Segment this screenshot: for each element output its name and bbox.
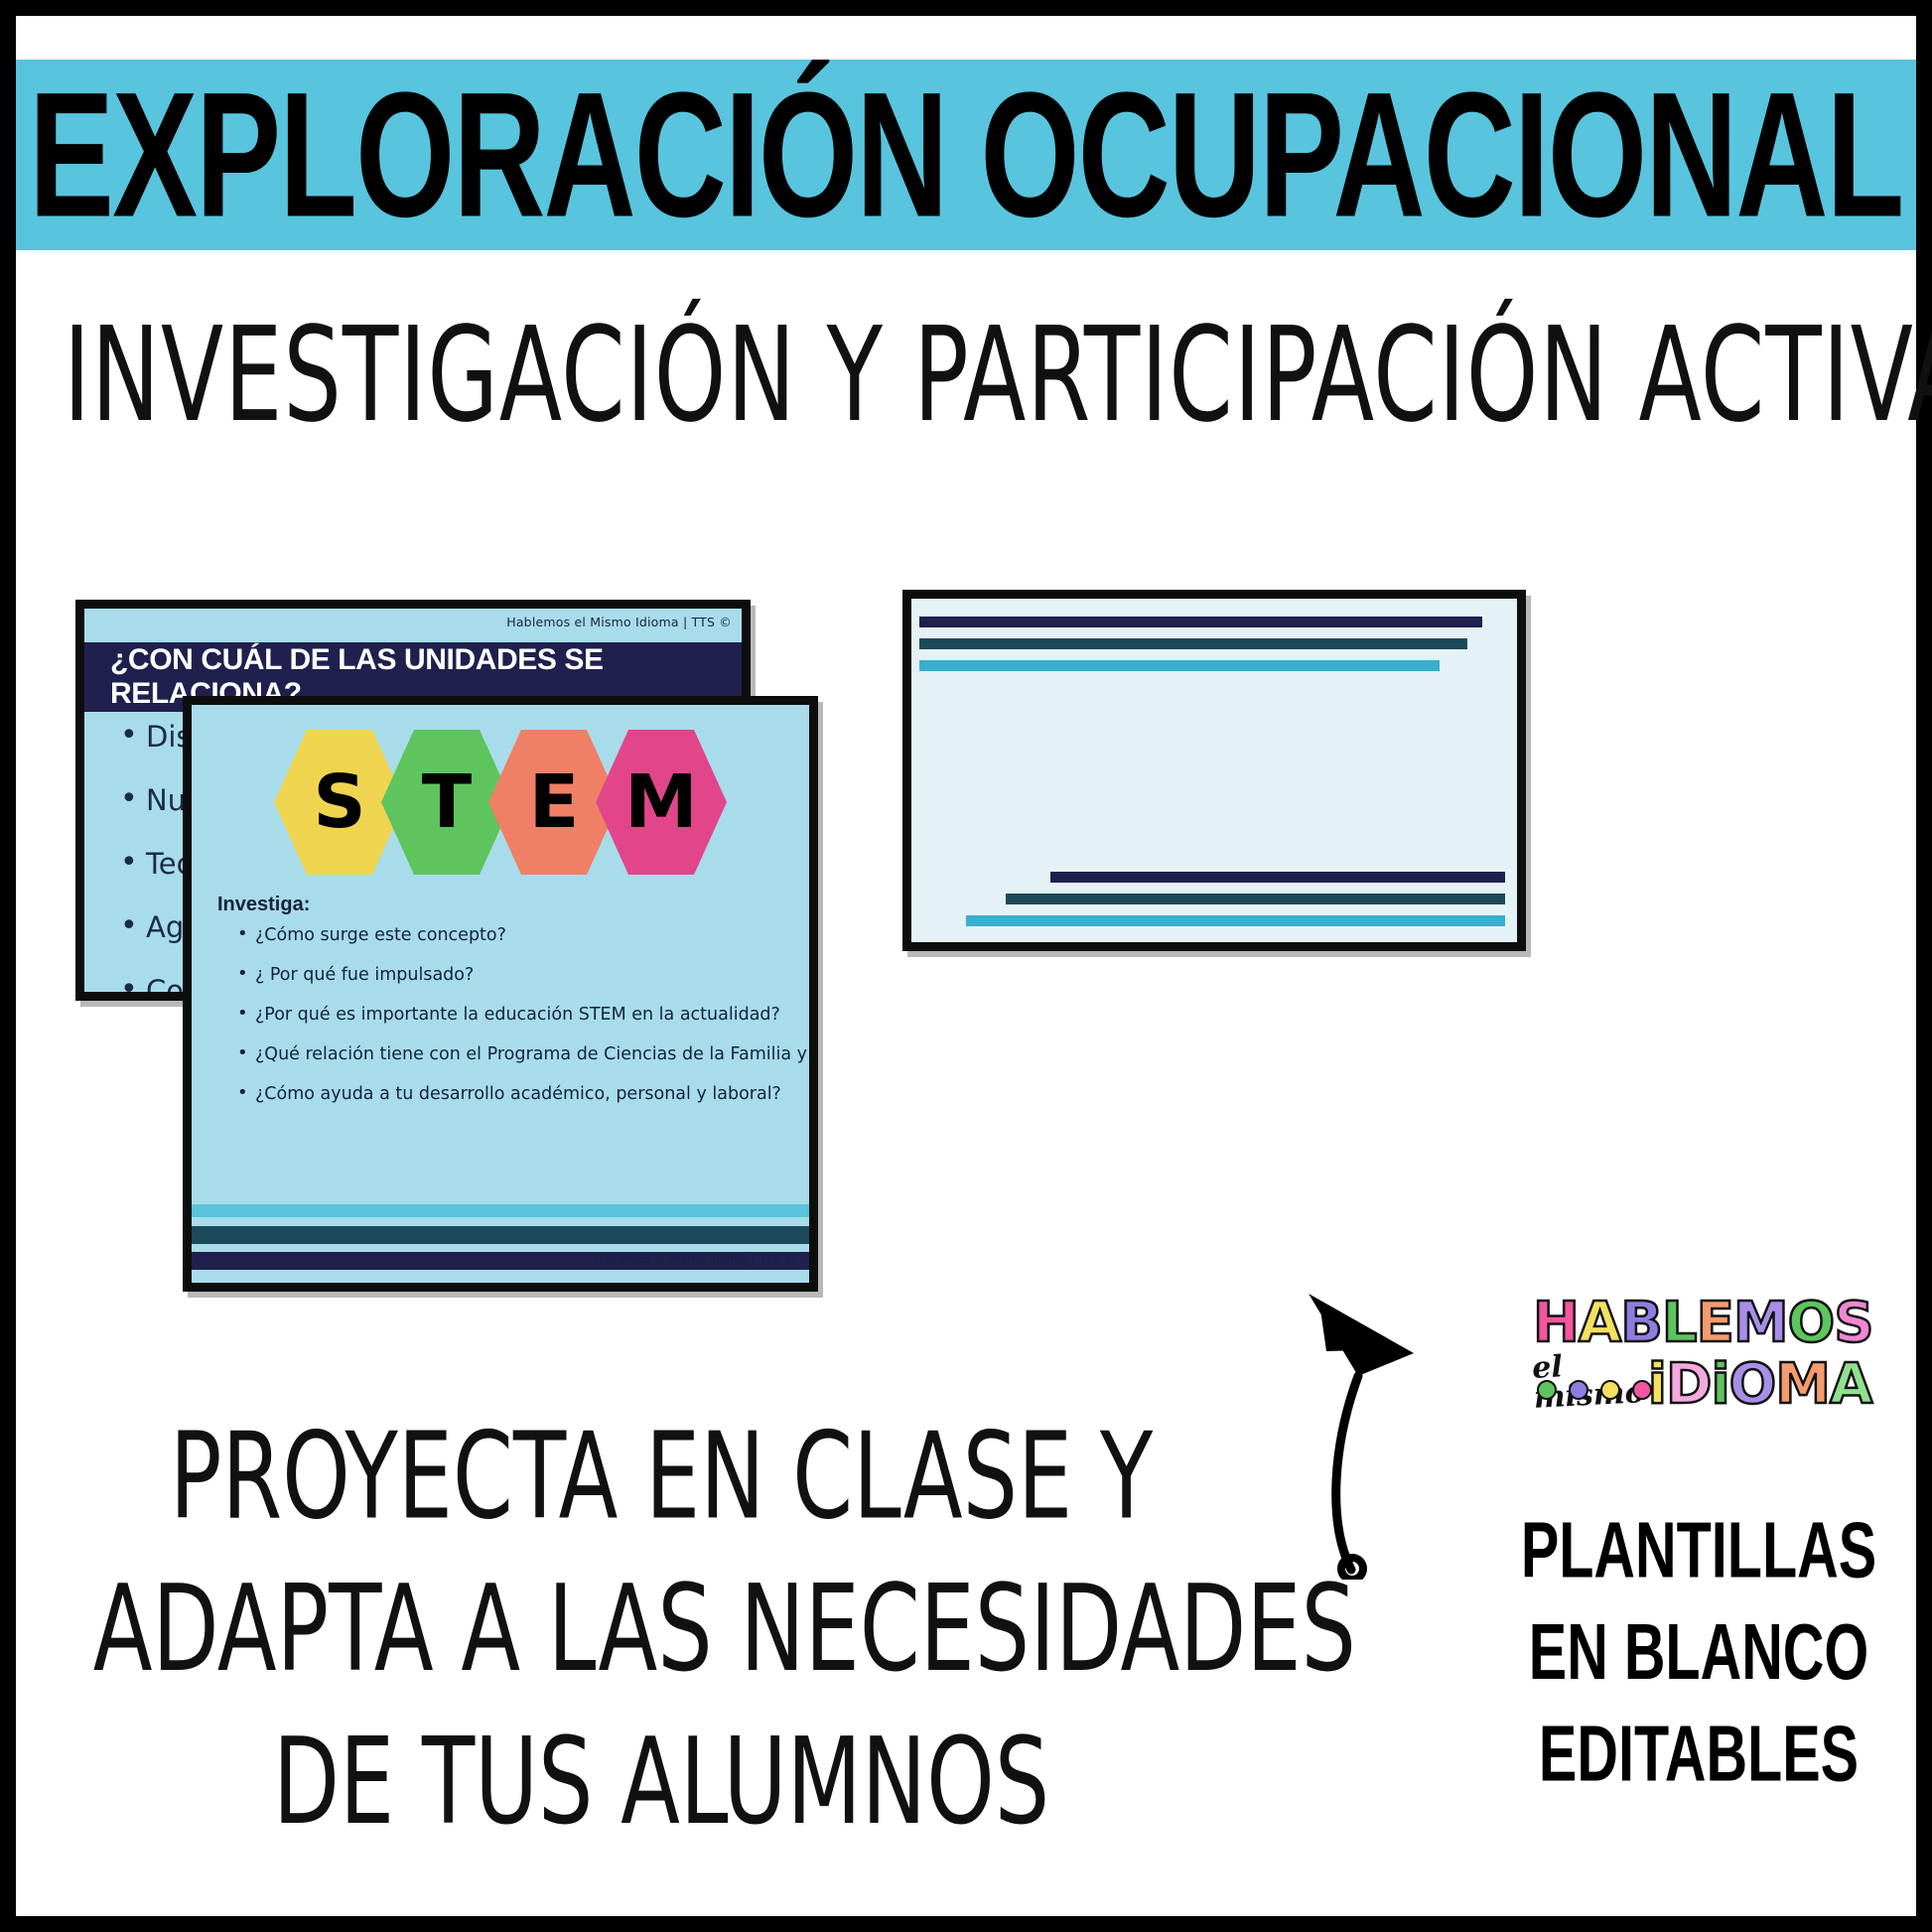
logo-letter: E <box>1697 1291 1733 1355</box>
slide-unidades-credit: Hablemos el Mismo Idioma | TTS © <box>506 615 732 629</box>
logo-letter: O <box>1788 1291 1835 1355</box>
footer-bar <box>192 1244 809 1252</box>
list-item: ¿ Por qué fue impulsado? <box>235 965 795 985</box>
logo-dot <box>1537 1380 1557 1400</box>
logo-letter: H <box>1533 1291 1579 1355</box>
cta-line: ADAPTA A LAS NECESIDADES <box>93 1554 1230 1707</box>
logo-dot <box>1569 1380 1588 1400</box>
logo-letter: A <box>1579 1291 1620 1355</box>
cta-line: PROYECTA EN CLASE Y <box>93 1401 1230 1554</box>
logo-letter: M <box>1775 1352 1830 1417</box>
logo-letter: D <box>1666 1352 1711 1417</box>
poster-title: EXPLORACIÓN OCUPACIONAL <box>29 66 1902 243</box>
template-top-bar <box>919 638 1467 649</box>
slide-stem: S T E M Investiga: ¿Cómo surge este conc… <box>183 696 818 1292</box>
stem-hexagon-row: S T E M <box>274 727 727 878</box>
list-item: ¿Cómo surge este concepto? <box>235 925 795 945</box>
footer-bar <box>192 1204 809 1217</box>
template-top-bar <box>919 617 1482 627</box>
plantillas-line: EN BLANCO <box>1507 1601 1891 1703</box>
plantillas-label: PLANTILLAS EN BLANCO EDITABLES <box>1507 1500 1891 1805</box>
logo-letter: L <box>1662 1291 1697 1355</box>
plantillas-line: EDITABLES <box>1507 1704 1891 1805</box>
stem-footer-bars <box>192 1204 809 1283</box>
slide-unidades-topbar: Hablemos el Mismo Idioma | TTS © <box>84 609 742 642</box>
cta-line: DE TUS ALUMNOS <box>93 1706 1230 1859</box>
stem-question-list: ¿Cómo surge este concepto? ¿ Por qué fue… <box>235 925 795 1124</box>
logo-letter: S <box>1834 1291 1872 1355</box>
top-banner: EXPLORACIÓN OCUPACIONAL <box>16 60 1916 250</box>
logo-dots <box>1537 1380 1652 1400</box>
hexagon-m-icon: M <box>596 727 727 878</box>
logo-line-1: HABLEMOS <box>1533 1297 1861 1349</box>
plantillas-line: PLANTILLAS <box>1507 1500 1891 1601</box>
poster-subtitle: INVESTIGACIÓN Y PARTICIPACIÓN ACTIVA <box>64 300 1868 452</box>
footer-bar <box>192 1217 809 1226</box>
template-bottom-bar <box>1006 894 1505 904</box>
logo-dot <box>1632 1380 1652 1400</box>
footer-bar <box>192 1226 809 1244</box>
brand-logo: HABLEMOS el mismo iDiOMA <box>1533 1297 1861 1411</box>
slide-blank-template <box>902 590 1526 951</box>
list-item: ¿Por qué es importante la educación STEM… <box>235 1005 795 1025</box>
logo-letter: B <box>1620 1291 1662 1355</box>
logo-letter: O <box>1729 1352 1776 1417</box>
poster-root: EXPLORACIÓN OCUPACIONAL INVESTIGACIÓN Y … <box>0 0 1932 1932</box>
logo-letter: A <box>1830 1352 1871 1417</box>
list-item: ¿Qué relación tiene con el Programa de C… <box>235 1044 795 1064</box>
footer-bar <box>192 1270 809 1283</box>
logo-dot <box>1600 1380 1620 1400</box>
logo-letter: i <box>1711 1352 1728 1417</box>
list-item: ¿Cómo ayuda a tu desarrollo académico, p… <box>235 1084 795 1104</box>
template-top-bar <box>919 660 1440 671</box>
logo-idioma: iDiOMA <box>1648 1358 1872 1411</box>
stem-footer-credit: Hablemos el Mismo Idioma | TTS © <box>594 1252 795 1266</box>
stem-prompt-label: Investiga: <box>217 894 310 916</box>
curved-arrow-icon <box>1297 1282 1525 1580</box>
logo-letter: M <box>1733 1291 1788 1355</box>
call-to-action-text: PROYECTA EN CLASE Y ADAPTA A LAS NECESID… <box>93 1401 1230 1859</box>
template-bottom-bar <box>966 915 1505 926</box>
template-bottom-bar <box>1050 872 1505 883</box>
